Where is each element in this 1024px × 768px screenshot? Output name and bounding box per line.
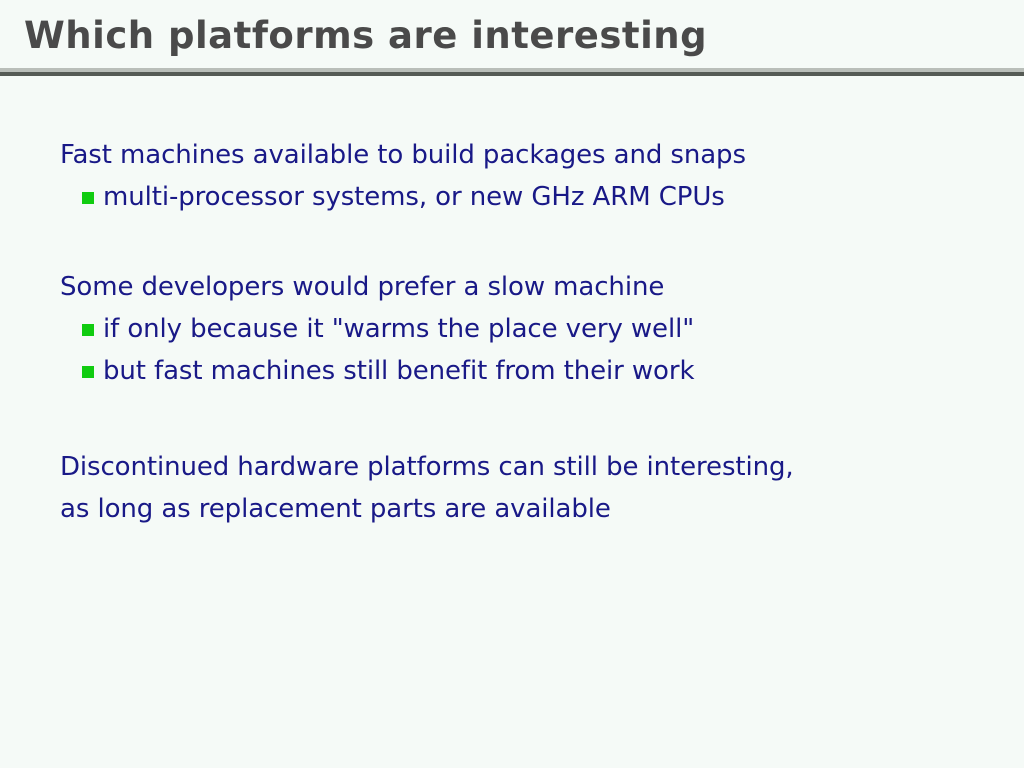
bullet-label: if only because it "warms the place very… bbox=[103, 314, 694, 344]
square-bullet-icon bbox=[82, 192, 94, 204]
bullet-item: multi-processor systems, or new GHz ARM … bbox=[60, 176, 1010, 218]
bullet-label: but fast machines still benefit from the… bbox=[103, 356, 694, 386]
slide-canvas: Which platforms are interesting Fast mac… bbox=[0, 0, 1024, 768]
block-3-lead-line-1: Discontinued hardware platforms can stil… bbox=[60, 446, 1010, 488]
block-2-lead: Some developers would prefer a slow mach… bbox=[60, 266, 1010, 308]
block-3-lead-line-2: as long as replacement parts are availab… bbox=[60, 488, 1010, 530]
bullet-label: multi-processor systems, or new GHz ARM … bbox=[103, 182, 725, 212]
block-1-lead: Fast machines available to build package… bbox=[60, 134, 1010, 176]
page-title: Which platforms are interesting bbox=[24, 12, 707, 60]
square-bullet-icon bbox=[82, 324, 94, 336]
content-block-3: Discontinued hardware platforms can stil… bbox=[60, 446, 1010, 530]
square-bullet-icon bbox=[82, 366, 94, 378]
bullet-item: if only because it "warms the place very… bbox=[60, 308, 1010, 350]
content-block-2: Some developers would prefer a slow mach… bbox=[60, 266, 1010, 392]
title-bar: Which platforms are interesting bbox=[0, 0, 1024, 68]
bullet-item: but fast machines still benefit from the… bbox=[60, 350, 1010, 392]
slide-body: Fast machines available to build package… bbox=[0, 76, 1024, 768]
content-block-1: Fast machines available to build package… bbox=[60, 134, 1010, 218]
